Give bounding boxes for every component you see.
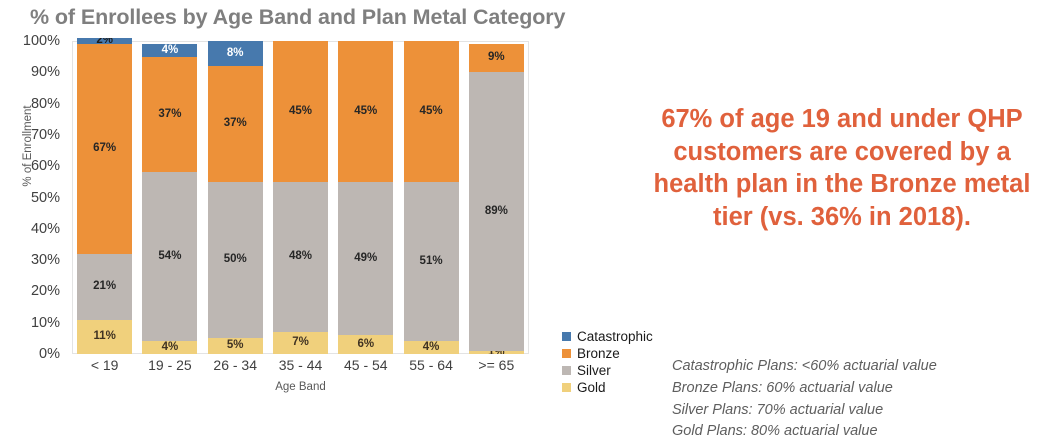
x-axis-tick-label: 55 - 64	[404, 357, 459, 373]
bar-column[interactable]: 5%50%37%8%	[208, 41, 263, 354]
bar-segment-label: 54%	[158, 251, 181, 263]
bar-segment-label: 49%	[354, 253, 377, 265]
bar-segment-silver[interactable]: 51%	[404, 182, 459, 342]
page-title: % of Enrollees by Age Band and Plan Meta…	[30, 5, 565, 30]
bar-column[interactable]: 4%51%45%	[404, 41, 459, 354]
bar-segment-label: 6%	[357, 339, 374, 351]
legend-item[interactable]: Gold	[562, 379, 653, 395]
y-axis-tick-label: 0%	[39, 346, 60, 362]
bar-segment-label: 67%	[93, 143, 116, 155]
bar-segment-label: 50%	[224, 254, 247, 266]
bar-segment-label: 8%	[227, 48, 244, 60]
x-axis-ticks: < 1919 - 2526 - 3435 - 4445 - 5455 - 64>…	[72, 357, 529, 379]
bar-segment-bronze[interactable]: 9%	[469, 44, 524, 72]
legend-item[interactable]: Silver	[562, 362, 653, 378]
bar-segment-label: 4%	[423, 342, 440, 354]
bar-segment-gold[interactable]: 4%	[404, 341, 459, 354]
bar-segment-bronze[interactable]: 67%	[77, 44, 132, 254]
x-axis-tick-label: >= 65	[469, 357, 524, 373]
y-axis-tick-label: 50%	[31, 190, 60, 206]
bar-segment-label: 7%	[292, 337, 309, 349]
bar-segment-label: 21%	[93, 281, 116, 293]
legend-swatch-icon	[562, 366, 571, 375]
x-axis-tick-label: 35 - 44	[273, 357, 328, 373]
bar-segment-label: 37%	[224, 118, 247, 130]
footnote-line: Bronze Plans: 60% actuarial value	[672, 378, 1052, 400]
legend-label: Bronze	[577, 346, 620, 361]
bar-segment-silver[interactable]: 49%	[338, 182, 393, 335]
legend-swatch-icon	[562, 383, 571, 392]
bar-segment-label: 45%	[354, 106, 377, 118]
footnote-line: Gold Plans: 80% actuarial value	[672, 421, 1052, 443]
legend: CatastrophicBronzeSilverGold	[562, 328, 653, 396]
y-axis-tick-label: 10%	[31, 315, 60, 331]
bar-segment-label: 89%	[485, 206, 508, 218]
bar-segment-catastrophic[interactable]: 8%	[208, 41, 263, 66]
legend-item[interactable]: Bronze	[562, 345, 653, 361]
bar-segment-silver[interactable]: 21%	[77, 254, 132, 320]
legend-label: Gold	[577, 380, 606, 395]
bar-segment-silver[interactable]: 54%	[142, 172, 197, 341]
bar-segment-gold[interactable]: 11%	[77, 320, 132, 354]
legend-label: Silver	[577, 363, 611, 378]
bar-segment-label: 5%	[227, 340, 244, 352]
bar-segment-label: 4%	[162, 45, 179, 57]
bar-segment-silver[interactable]: 89%	[469, 72, 524, 351]
stacked-bars: 11%21%67%2%4%54%37%4%5%50%37%8%7%48%45%6…	[72, 41, 529, 354]
y-axis-ticks: 0%10%20%30%40%50%60%70%80%90%100%	[4, 41, 66, 353]
legend-item[interactable]: Catastrophic	[562, 328, 653, 344]
y-axis-tick-label: 100%	[23, 33, 60, 49]
bar-segment-catastrophic[interactable]: 2%	[77, 38, 132, 44]
y-axis-tick-label: 40%	[31, 221, 60, 237]
bar-segment-silver[interactable]: 50%	[208, 182, 263, 339]
bar-segment-label: 37%	[158, 109, 181, 121]
bar-column[interactable]: 1%89%9%	[469, 41, 524, 354]
bar-segment-bronze[interactable]: 37%	[208, 66, 263, 182]
y-axis-title: % of Enrollment	[22, 66, 34, 226]
bar-segment-label: 9%	[488, 52, 505, 64]
bar-column[interactable]: 4%54%37%4%	[142, 41, 197, 354]
bar-segment-bronze[interactable]: 45%	[273, 41, 328, 182]
footnote-line: Silver Plans: 70% actuarial value	[672, 400, 1052, 422]
bar-segment-label: 1%	[488, 351, 505, 354]
bar-segment-label: 48%	[289, 251, 312, 263]
y-axis-tick-label: 20%	[31, 283, 60, 299]
bar-segment-gold[interactable]: 7%	[273, 332, 328, 354]
footnote-line: Catastrophic Plans: <60% actuarial value	[672, 356, 1052, 378]
y-axis-tick-label: 30%	[31, 252, 60, 268]
bar-segment-label: 4%	[162, 342, 179, 354]
bar-segment-label: 11%	[93, 331, 115, 343]
footnote-list: Catastrophic Plans: <60% actuarial value…	[672, 356, 1052, 443]
bar-segment-bronze[interactable]: 45%	[404, 41, 459, 182]
bar-segment-label: 2%	[96, 38, 113, 44]
legend-swatch-icon	[562, 349, 571, 358]
y-axis-tick-label: 60%	[31, 158, 60, 174]
legend-swatch-icon	[562, 332, 571, 341]
legend-label: Catastrophic	[577, 329, 653, 344]
bar-segment-bronze[interactable]: 45%	[338, 41, 393, 182]
x-axis-tick-label: < 19	[77, 357, 132, 373]
bar-segment-catastrophic[interactable]: 4%	[142, 44, 197, 57]
callout-text: 67% of age 19 and under QHP customers ar…	[640, 103, 1044, 234]
bar-segment-label: 45%	[289, 106, 312, 118]
x-axis-tick-label: 45 - 54	[338, 357, 393, 373]
bar-segment-bronze[interactable]: 37%	[142, 57, 197, 173]
bar-segment-gold[interactable]: 1%	[469, 351, 524, 354]
bar-segment-gold[interactable]: 6%	[338, 335, 393, 354]
bar-segment-label: 51%	[420, 256, 443, 268]
bar-column[interactable]: 6%49%45%	[338, 41, 393, 354]
y-axis-tick-label: 70%	[31, 127, 60, 143]
x-axis-title: Age Band	[72, 381, 529, 393]
x-axis-tick-label: 19 - 25	[142, 357, 197, 373]
bar-column[interactable]: 7%48%45%	[273, 41, 328, 354]
bar-column[interactable]: 11%21%67%2%	[77, 41, 132, 354]
bar-segment-label: 45%	[420, 106, 443, 118]
bar-segment-gold[interactable]: 5%	[208, 338, 263, 354]
bar-segment-gold[interactable]: 4%	[142, 341, 197, 354]
y-axis-tick-label: 80%	[31, 96, 60, 112]
y-axis-tick-label: 90%	[31, 64, 60, 80]
x-axis-tick-label: 26 - 34	[208, 357, 263, 373]
bar-segment-silver[interactable]: 48%	[273, 182, 328, 332]
